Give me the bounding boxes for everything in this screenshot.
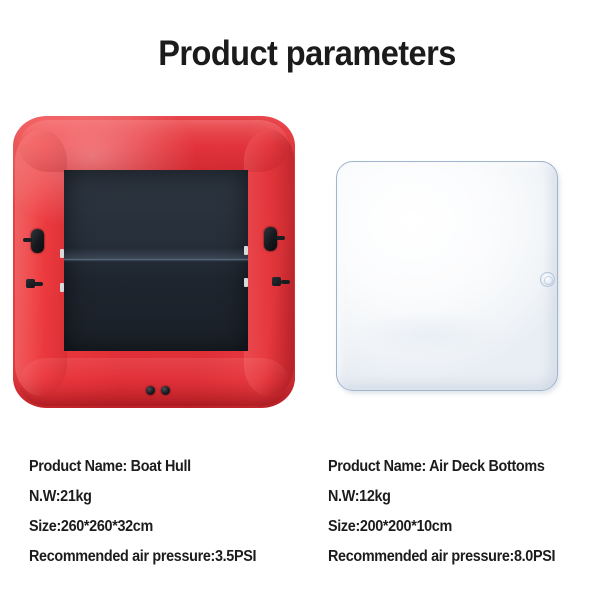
- hull-drain-plug-left: [146, 386, 155, 395]
- air-deck-valve-icon: [540, 272, 555, 287]
- air-deck-sheen: [355, 312, 505, 358]
- hull-tube-left-shading: [15, 130, 67, 396]
- air-deck-product-image: [336, 161, 562, 395]
- spec-size: Size:200*200*10cm: [328, 512, 555, 542]
- spec-air-pressure: Recommended air pressure:8.0PSI: [328, 542, 555, 572]
- hull-valve-stem-right: [276, 236, 285, 240]
- page-title: Product parameters: [21, 36, 592, 71]
- spec-product-name: Product Name: Boat Hull: [29, 452, 256, 482]
- hull-d-ring-stem-right: [281, 280, 290, 284]
- spec-air-pressure: Recommended air pressure:3.5PSI: [29, 542, 256, 572]
- spec-product-name: Product Name: Air Deck Bottoms: [328, 452, 555, 482]
- hull-tube-right-shading: [244, 130, 294, 396]
- hull-valve-fitting-right: [264, 227, 277, 251]
- hull-deck-clip-right-lower: [244, 278, 248, 287]
- hull-d-ring-stem-left: [34, 282, 43, 286]
- air-deck-panel: [336, 161, 558, 391]
- hull-deck-clip-right-upper: [244, 246, 248, 255]
- spec-net-weight: N.W:21kg: [29, 482, 256, 512]
- boat-hull-spec-list: Product Name: Boat Hull N.W:21kg Size:26…: [29, 452, 271, 572]
- hull-deck-clip-left-lower: [60, 283, 64, 292]
- hull-deck-seam: [64, 259, 248, 262]
- hull-d-ring-right: [272, 277, 281, 286]
- spec-net-weight: N.W:12kg: [328, 482, 555, 512]
- hull-valve-stem-left: [23, 238, 32, 242]
- spec-size: Size:260*260*32cm: [29, 512, 256, 542]
- hull-drain-plug-right: [161, 386, 170, 395]
- hull-tube-top-shading: [19, 120, 289, 172]
- boat-hull-product-image: [13, 116, 295, 408]
- hull-valve-fitting-left: [31, 229, 44, 253]
- hull-deck-clip-left-upper: [60, 249, 64, 258]
- hull-tube-bottom-shading: [19, 358, 289, 406]
- air-deck-spec-list: Product Name: Air Deck Bottoms N.W:12kg …: [328, 452, 570, 572]
